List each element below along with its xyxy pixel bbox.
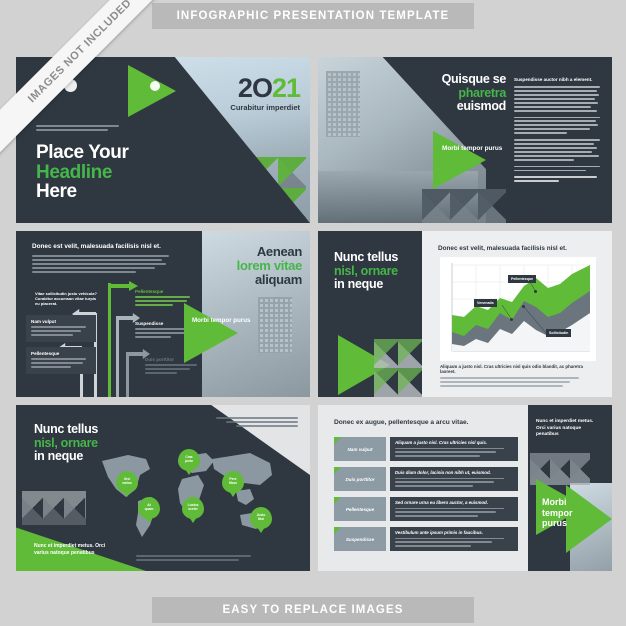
- map-pin-1-line-2: justo: [185, 459, 193, 463]
- chart-point-venenatis: [510, 318, 513, 321]
- headline-line-3: Here: [36, 182, 128, 202]
- list-row-2-corner-icon: [334, 497, 341, 504]
- arrow-gray-2: [126, 353, 129, 397]
- map-pin-5-line-2: Nisi: [258, 517, 264, 521]
- list-row-1-title: Duis diam dolor, lacinia non nibh ut, eu…: [395, 470, 513, 475]
- list-row-1-corner-icon: [334, 467, 341, 474]
- aenean-title-line-1: Aenean: [206, 245, 302, 259]
- year-subtitle: Curabitur imperdiet: [230, 103, 300, 112]
- aenean-card-3-label: Pellentesque: [135, 289, 195, 294]
- area-chart-svg: [440, 257, 596, 361]
- slides-row-2: Donec est velit, malesuada facilisis nis…: [16, 231, 612, 397]
- slide-map-caption: Nunc et imperdiet metus. Orci varius nat…: [34, 543, 110, 557]
- arrow-green: [108, 283, 111, 397]
- headline-line-2: Headline: [36, 163, 128, 183]
- list-row-0-title: Aliquam a justo nisl. Cras ultricies nis…: [395, 440, 513, 445]
- slide-quisque-title: Quisque se pharetra euismod: [422, 73, 506, 114]
- slide-chart-footer: Aliquam a justo nisl. Cras ultricies nis…: [440, 364, 598, 389]
- aenean-card-2[interactable]: Pellentesque: [26, 347, 96, 374]
- list-row-2-tag[interactable]: Pellentesque: [334, 497, 386, 521]
- area-chart: Venenatis Pellentesque Sollicitudin: [440, 257, 596, 361]
- slide-chart-triangle-pattern: [374, 339, 422, 397]
- quisque-title-line-2: pharetra: [422, 87, 506, 101]
- list-row-3-tag-label: Suspendisse: [346, 537, 374, 542]
- chart-callout-venenatis[interactable]: Venenatis: [474, 299, 497, 307]
- year-dark-part: 2O: [238, 73, 272, 103]
- list-row-1-body: Duis diam dolor, lacinia non nibh ut, eu…: [390, 467, 518, 491]
- slide-aenean-title: Aenean lorem vitae aliquam: [206, 245, 302, 287]
- quisque-body-heading: Suspendisse auctor nibh a element.: [514, 77, 600, 82]
- list-triangle-line-1: Morbi: [542, 497, 573, 508]
- slide-list-heading: Donec ex augue, pellentesque a arcu vita…: [334, 419, 514, 426]
- arrow-gray-1: [116, 317, 119, 397]
- chart-callout-sollicitudin[interactable]: Sollicitudin: [546, 329, 571, 337]
- chart-point-pellentesque: [534, 290, 537, 293]
- headline-line-1: Place Your: [36, 143, 128, 163]
- chart-point-sollicitudin: [522, 305, 525, 308]
- slide-list-triangle-label: Morbi tempor purus: [542, 497, 573, 529]
- list-row-3-title: Vestibulum ante ipsum primis in faucibus…: [395, 530, 513, 535]
- slide-quisque-triangle-pattern: [422, 189, 506, 223]
- slide-aenean-green-triangle: [184, 303, 238, 363]
- year-green-part: 21: [272, 73, 300, 103]
- list-row-3-body: Vestibulum ante ipsum primis in faucibus…: [390, 527, 518, 551]
- slide-list-note: Nunc et imperdiet metus. Orci varius nat…: [536, 419, 602, 439]
- chart-title-line-2: nisl, ornare: [334, 265, 418, 279]
- brand-logo-secondary-icon: [150, 81, 160, 91]
- chart-title-line-1: Nunc tellus: [334, 251, 418, 265]
- slide-quisque-green-triangle: [433, 131, 486, 189]
- world-map: Orcivarius Crasjusto Atquam Luctussceler…: [94, 445, 290, 545]
- list-row-0-corner-icon: [334, 437, 341, 444]
- slide-map-note: [216, 417, 298, 429]
- slide-quisque-building: [326, 71, 360, 137]
- slides-row-3: Nunc tellus nisl, ornare in neque: [16, 405, 612, 571]
- slide-quisque-triangle-label: Morbi tempor purus: [442, 145, 502, 152]
- list-triangle-line-2: tempor: [542, 508, 573, 519]
- top-banner: INFOGRAPHIC PRESENTATION TEMPLATE: [152, 3, 474, 29]
- list-row-2-title: Sed ornare urna eu libero auctor, a euis…: [395, 500, 513, 505]
- list-row-1-tag-label: Duis porttitor: [345, 477, 374, 482]
- bottom-banner: EASY TO REPLACE IMAGES: [152, 597, 474, 623]
- map-pin-2[interactable]: Atquam: [138, 497, 160, 519]
- poster-canvas: INFOGRAPHIC PRESENTATION TEMPLATE Place …: [0, 0, 626, 626]
- map-pin-4[interactable]: Perefibus: [222, 471, 244, 493]
- map-pin-0[interactable]: Orcivarius: [116, 471, 138, 493]
- slide-quisque[interactable]: Quisque se pharetra euismod Suspendisse …: [318, 57, 612, 223]
- slide-aenean-building: [258, 297, 292, 353]
- list-row-1-tag[interactable]: Duis porttitor: [334, 467, 386, 491]
- bottom-banner-label: EASY TO REPLACE IMAGES: [223, 604, 404, 616]
- slide-aenean-intro: [32, 255, 172, 275]
- slide-title-headline: Place Your Headline Here: [36, 143, 128, 202]
- chart-callout-pellentesque[interactable]: Pellentesque: [508, 275, 536, 283]
- list-row-0-tag-label: Nam vulput: [347, 447, 372, 452]
- slide-map-title: Nunc tellus nisl, ornare in neque: [34, 423, 98, 464]
- map-pin-3[interactable]: Luctussceler: [182, 497, 204, 519]
- slide-map-footnote: [136, 555, 256, 563]
- list-row-3-tag[interactable]: Suspendisse: [334, 527, 386, 551]
- quisque-title-line-1: Quisque se: [422, 73, 506, 87]
- list-row-2-tag-label: Pellentesque: [346, 507, 374, 512]
- top-banner-label: INFOGRAPHIC PRESENTATION TEMPLATE: [177, 10, 450, 22]
- slide-title-kicker: [36, 125, 128, 133]
- map-pin-2-line-2: quam: [145, 507, 154, 511]
- list-triangle-line-3: purus: [542, 518, 573, 529]
- aenean-card-2-label: Pellentesque: [31, 351, 91, 356]
- map-title-line-3: in neque: [34, 450, 98, 464]
- map-pin-3-line-2: sceler: [188, 507, 198, 511]
- chart-footer-heading: Aliquam a justo nisl. Cras ultricies nis…: [440, 364, 598, 374]
- slide-aenean-heading: Donec est velit, malesuada facilisis nis…: [32, 243, 182, 250]
- aenean-title-line-2: lorem vitae: [206, 259, 302, 273]
- slide-map-triangle-pattern: [22, 491, 86, 525]
- chart-title-line-3: in neque: [334, 278, 418, 292]
- slide-title-green-triangle: [128, 65, 176, 117]
- slide-aenean-triangle-label: Morbi tempor purus: [192, 317, 250, 324]
- slide-chart[interactable]: Nunc tellus nisl, ornare in neque Donec …: [318, 231, 612, 397]
- list-row-0-body: Aliquam a justo nisl. Cras ultricies nis…: [390, 437, 518, 461]
- aenean-card-1-label: Nam vulput: [31, 319, 91, 324]
- slide-list-green-triangle-2: [566, 485, 612, 553]
- map-pin-1[interactable]: Crasjusto: [178, 449, 200, 471]
- slide-chart-title: Nunc tellus nisl, ornare in neque: [334, 251, 418, 292]
- map-pin-0-line-2: varius: [122, 481, 132, 485]
- aenean-card-0[interactable]: Vitae sollicitudin justo vehicula? Curab…: [30, 287, 102, 310]
- slides-grid: Place Your Headline Here 2O21 Curabitur …: [16, 57, 612, 579]
- aenean-card-1[interactable]: Nam vulput: [26, 315, 96, 342]
- map-pin-4-line-2: fibus: [229, 481, 237, 485]
- map-title-line-1: Nunc tellus: [34, 423, 98, 437]
- slide-aenean[interactable]: Donec est velit, malesuada facilisis nis…: [16, 231, 310, 397]
- slide-list[interactable]: Donec ex augue, pellentesque a arcu vita…: [318, 405, 612, 571]
- slide-quisque-body: Suspendisse auctor nibh a element.: [514, 77, 600, 184]
- slide-title-year-block: 2O21 Curabitur imperdiet: [230, 75, 300, 112]
- quisque-title-line-3: euismod: [422, 100, 506, 114]
- list-row-0-tag[interactable]: Nam vulput: [334, 437, 386, 461]
- map-pin-5[interactable]: JustoNisi: [250, 507, 272, 529]
- slide-map[interactable]: Nunc tellus nisl, ornare in neque: [16, 405, 310, 571]
- list-row-2-body: Sed ornare urna eu libero auctor, a euis…: [390, 497, 518, 521]
- slide-chart-heading: Donec est velit, malesuada facilisis nis…: [438, 245, 598, 252]
- map-title-line-2: nisl, ornare: [34, 437, 98, 451]
- list-row-3-corner-icon: [334, 527, 341, 534]
- slides-row-1: Place Your Headline Here 2O21 Curabitur …: [16, 57, 612, 223]
- aenean-card-0-label: Vitae sollicitudin justo vehicula? Curab…: [35, 291, 97, 306]
- aenean-title-line-3: aliquam: [206, 273, 302, 287]
